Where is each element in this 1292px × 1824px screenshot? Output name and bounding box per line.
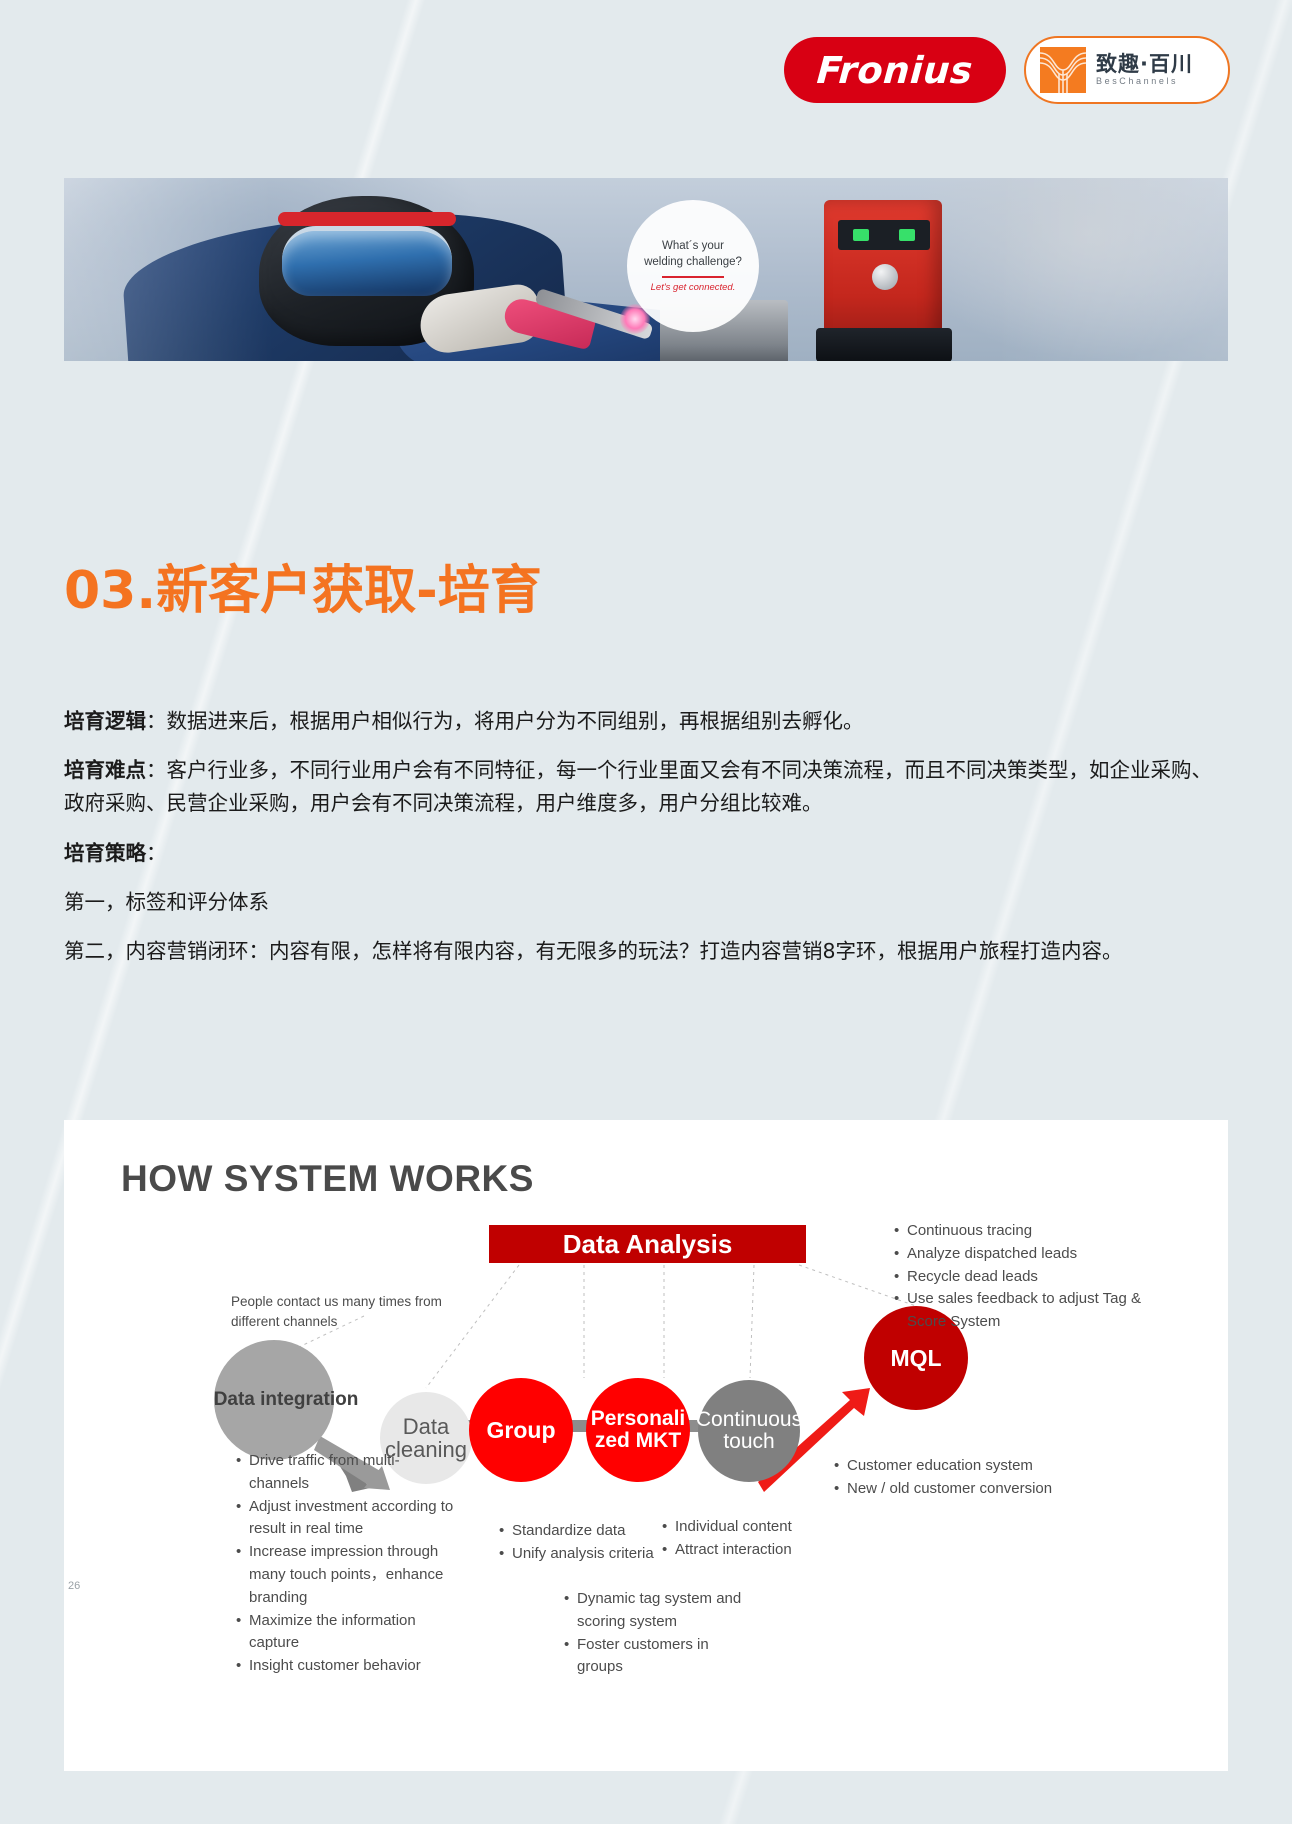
node-continuous-touch[interactable]: Continuoustouch (698, 1380, 800, 1482)
text-nurture-difficulty: ：客户行业多，不同行业用户会有不同特征，每一个行业里面又会有不同决策流程，而且不… (64, 758, 1212, 815)
node-label-data-integration: Data integration (214, 1389, 359, 1411)
node-personalized-mkt[interactable]: Personalized MKT (586, 1378, 690, 1482)
fronius-wordmark: Fronius (816, 49, 975, 92)
list-item: Recycle dead leads (894, 1266, 1184, 1289)
slide-number: 26 (68, 1580, 80, 1592)
list-item: Unify analysis criteria (499, 1543, 689, 1566)
list-item: Continuous tracing (894, 1220, 1184, 1243)
fronius-logo: Fronius (784, 37, 1006, 103)
beschannels-cn-name: 致趣·百川 (1096, 54, 1193, 75)
paragraph-point-two: 第二，内容营销闭环：内容有限，怎样将有限内容，有无限多的玩法？打造内容营销8字环… (64, 935, 1230, 968)
paragraph-nurture-strategy: 培育策略： (64, 837, 1230, 870)
beschannels-text: 致趣·百川 BesChannels (1096, 54, 1193, 86)
paragraph-point-one: 第一，标签和评分体系 (64, 886, 1230, 919)
note-data-integration-bullets: Drive traffic from multi-channels Adjust… (236, 1450, 456, 1678)
node-data-integration[interactable]: Data integration (214, 1340, 334, 1460)
list-item: many touch points，enhance (236, 1564, 456, 1587)
beschannels-en-name: BesChannels (1096, 77, 1193, 86)
list-item: Attract interaction (662, 1539, 842, 1562)
list-item: Drive traffic from multi-channels (236, 1450, 456, 1496)
list-item: Maximize the information (236, 1610, 456, 1633)
note-data-cleaning-bullets: Standardize data Unify analysis criteria (499, 1520, 689, 1566)
text-nurture-strategy: ： (146, 841, 167, 865)
note-data-analysis-bullets: Continuous tracing Analyze dispatched le… (894, 1220, 1184, 1334)
list-item: Foster customers in (564, 1634, 764, 1657)
beschannels-logo: 致趣·百川 BesChannels (1024, 36, 1230, 104)
node-label-group: Group (487, 1417, 556, 1444)
note-personalized-bullets: Individual content Attract interaction (662, 1516, 842, 1562)
label-nurture-logic: 培育逻辑 (64, 709, 146, 733)
header-logos: Fronius 致趣·百川 BesChannels (784, 36, 1230, 104)
label-nurture-difficulty: 培育难点 (64, 758, 146, 782)
hero-vignette (64, 178, 1228, 361)
list-item: scoring system (564, 1611, 764, 1634)
list-item: Dynamic tag system and (564, 1588, 764, 1611)
body-copy: 培育逻辑：数据进来后，根据用户相似行为，将用户分为不同组别，再根据组别去孵化。 … (64, 705, 1230, 984)
list-item: New / old customer conversion (834, 1478, 1094, 1501)
beschannels-mark-icon (1040, 47, 1086, 93)
text-nurture-logic: ：数据进来后，根据用户相似行为，将用户分为不同组别，再根据组别去孵化。 (146, 709, 864, 733)
list-item: Increase impression through (236, 1541, 456, 1564)
note-group-bullets: Dynamic tag system and scoring system Fo… (564, 1588, 764, 1679)
page-title: 03.新客户获取-培育 (64, 565, 542, 617)
list-item: branding (236, 1587, 456, 1610)
hero-photo: What´s your welding challenge? Let's get… (64, 178, 1228, 361)
list-item: Standardize data (499, 1520, 689, 1543)
node-label-mql: MQL (890, 1345, 941, 1372)
list-item: Analyze dispatched leads (894, 1243, 1184, 1266)
label-nurture-strategy: 培育策略 (64, 841, 146, 865)
list-item: capture (236, 1632, 456, 1655)
note-people-contact: People contact us many times from differ… (231, 1292, 456, 1333)
node-group[interactable]: Group (469, 1378, 573, 1482)
list-item: Individual content (662, 1516, 842, 1539)
node-label-personalized-mkt: Personalized MKT (591, 1408, 686, 1452)
note-continuous-touch-bullets: Customer education system New / old cust… (834, 1455, 1094, 1501)
how-system-works-diagram: HOW SYSTEM WORKS Data Analysis (64, 1120, 1228, 1771)
list-item: Insight customer behavior (236, 1655, 456, 1678)
list-item: Customer education system (834, 1455, 1094, 1478)
paragraph-nurture-difficulty: 培育难点：客户行业多，不同行业用户会有不同特征，每一个行业里面又会有不同决策流程… (64, 754, 1230, 820)
node-label-continuous-touch: Continuoustouch (696, 1409, 802, 1453)
list-item: Score System (894, 1311, 1184, 1334)
list-item: groups (564, 1656, 764, 1679)
list-item: Use sales feedback to adjust Tag & (894, 1288, 1184, 1311)
list-item: Adjust investment according to (236, 1496, 456, 1519)
list-item: result in real time (236, 1518, 456, 1541)
paragraph-nurture-logic: 培育逻辑：数据进来后，根据用户相似行为，将用户分为不同组别，再根据组别去孵化。 (64, 705, 1230, 738)
